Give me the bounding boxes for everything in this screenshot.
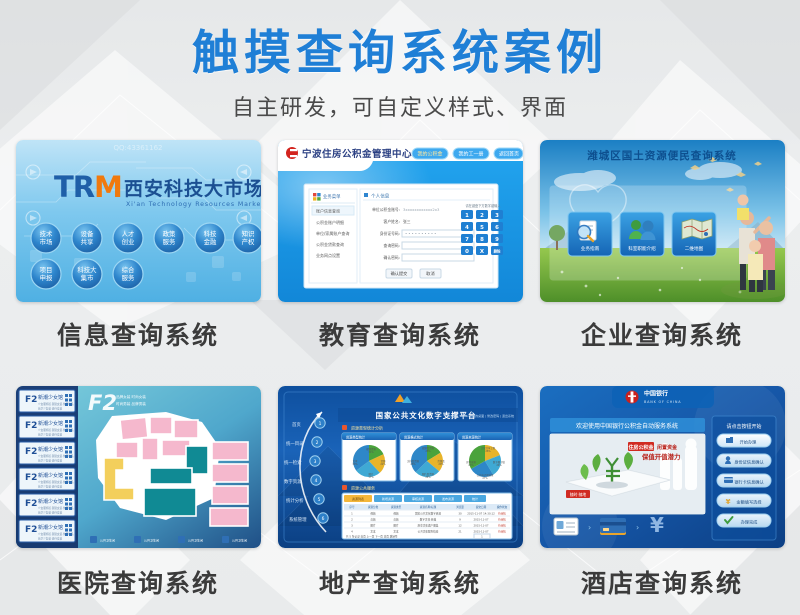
svg-text:序号: 序号 <box>349 506 355 510</box>
svg-text:音频: 音频 <box>393 518 399 522</box>
svg-text:4: 4 <box>465 225 469 231</box>
svg-text:服务: 服务 <box>121 273 134 282</box>
svg-text:新潮少女馆: 新潮少女馆 <box>38 420 63 427</box>
svg-text:2015-11-07: 2015-11-07 <box>473 530 488 534</box>
svg-text:12: 12 <box>458 524 462 528</box>
svg-text:视频: 视频 <box>393 512 399 516</box>
svg-text:BANK OF CHINA: BANK OF CHINA <box>644 400 681 404</box>
svg-text:品牌女装 时尚女装: 品牌女装 时尚女装 <box>116 394 146 399</box>
svg-text:返回首页: 返回首页 <box>498 151 518 158</box>
card-grid-row-1: QQ:43361162 TR M 西安科技大市场 Xi'an Technolog… <box>0 140 800 368</box>
svg-text:提交日期: 提交日期 <box>475 506 486 510</box>
svg-text:2: 2 <box>480 213 484 219</box>
svg-text:新潮少女馆: 新潮少女馆 <box>38 446 63 453</box>
card-education-query[interactable]: 宁波住房公积金管理中心 我的公积金 我的工一册 返回首页 <box>275 140 525 368</box>
svg-text:数字文化·经典: 数字文化·经典 <box>419 518 436 522</box>
card-realestate-query[interactable]: 国家公共文化数字支撑平台 欢迎您，admin | 我的桌面 | 修改密码 | 退… <box>275 386 525 610</box>
svg-text:F2: F2 <box>25 473 37 483</box>
svg-text:时尚男装 品牌男装: 时尚男装 品牌男装 <box>116 401 146 406</box>
thumbnail-realestate-query[interactable]: 国家公共文化数字支撑平台 欢迎您，admin | 我的桌面 | 修改密码 | 退… <box>278 386 523 548</box>
svg-text:确认提交: 确认提交 <box>390 271 407 278</box>
svg-text:人才: 人才 <box>121 229 134 238</box>
svg-text:发布资源: 发布资源 <box>441 496 453 501</box>
caption-info-query: 信息查询系统 <box>13 302 263 368</box>
svg-text:首页: 首页 <box>292 421 301 428</box>
svg-text:待审核: 待审核 <box>498 518 506 522</box>
svg-text:科室职能介绍: 科室职能介绍 <box>628 245 656 252</box>
svg-text:新潮少女馆: 新潮少女馆 <box>38 394 63 401</box>
svg-text:F2: F2 <box>25 421 37 431</box>
svg-text:单位公积金账号:: 单位公积金账号: <box>372 207 400 212</box>
svg-text:公共文化服务指南: 公共文化服务指南 <box>417 530 438 534</box>
svg-text:删除: 删除 <box>493 249 500 254</box>
svg-text:资源来源统计: 资源来源统计 <box>462 435 482 440</box>
svg-text:少女服饰馆·潮流女装·休闲单品: 少女服饰馆·潮流女装·休闲单品 <box>38 428 74 432</box>
card-enterprise-query[interactable]: 潍城区国土资源便民查询系统 业务指南 <box>537 140 787 368</box>
svg-text:业务网点设置: 业务网点设置 <box>316 252 340 258</box>
svg-text:0: 0 <box>465 249 469 255</box>
svg-text:文本: 文本 <box>393 530 399 534</box>
card-hospital-query[interactable]: F2 新潮少女馆 少女服饰馆·潮流女装·休闲单品 前卫少女装·流行女装 F2 新 <box>13 386 263 610</box>
svg-text:30: 30 <box>458 512 462 516</box>
svg-text:23%: 23% <box>468 464 474 467</box>
svg-text:产权: 产权 <box>241 237 254 246</box>
svg-text:我的工一册: 我的工一册 <box>458 151 483 158</box>
svg-text:F2: F2 <box>88 391 117 415</box>
thumbnail-hotel-query[interactable]: 中国银行 BANK OF CHINA 欢迎使用中国银行公积金自动服务系统 <box>540 386 785 548</box>
svg-text:西安科技大市场: 西安科技大市场 <box>124 177 261 200</box>
svg-text:业务指南: 业务指南 <box>580 245 599 252</box>
page-title: 触摸查询系统案例 <box>0 26 800 81</box>
svg-text:M: M <box>94 170 123 204</box>
svg-text:账户信息查询: 账户信息查询 <box>316 208 340 214</box>
svg-text:21: 21 <box>458 530 462 534</box>
svg-text:资源类型统计: 资源类型统计 <box>346 435 366 440</box>
svg-text:随时·随地: 随时·随地 <box>569 492 586 497</box>
svg-text:综合: 综合 <box>121 265 134 274</box>
svg-text:共享: 共享 <box>80 237 93 246</box>
svg-text:数字资源: 数字资源 <box>284 478 302 485</box>
svg-text:审核资源: 审核资源 <box>411 496 423 501</box>
svg-text:客户姓名:: 客户姓名: <box>383 219 399 224</box>
svg-text:科技: 科技 <box>203 229 216 238</box>
svg-text:科技大: 科技大 <box>77 265 97 274</box>
svg-text:少女服饰馆·潮流女装·休闲单品: 少女服饰馆·潮流女装·休闲单品 <box>38 506 74 510</box>
svg-text:中国银行: 中国银行 <box>644 390 668 398</box>
svg-text:宁波住房公积金管理中心: 宁波住房公积金管理中心 <box>302 148 412 160</box>
svg-text:22%: 22% <box>380 463 386 466</box>
svg-text:项目: 项目 <box>39 266 52 274</box>
svg-text:公共卫生间: 公共卫生间 <box>188 538 203 543</box>
svg-text:F2: F2 <box>25 525 37 535</box>
svg-text:潍城区国土资源便民查询系统: 潍城区国土资源便民查询系统 <box>586 149 737 162</box>
page-header: 触摸查询系统案例 自主研发，可自定义样式、界面 <box>0 0 800 122</box>
svg-text:确认密码:: 确认密码: <box>383 255 399 260</box>
svg-text:F2: F2 <box>25 395 37 405</box>
svg-text:视频: 视频 <box>370 512 376 516</box>
svg-text:图片: 图片 <box>370 524 376 528</box>
svg-text:统一检索: 统一检索 <box>284 459 302 466</box>
svg-text:新潮少女馆: 新潮少女馆 <box>38 472 63 479</box>
svg-text:28%: 28% <box>425 450 431 453</box>
svg-text:政策: 政策 <box>162 229 175 238</box>
svg-text:开始办理: 开始办理 <box>739 439 757 446</box>
svg-text:31%: 31% <box>368 451 374 454</box>
svg-text:2: 2 <box>315 440 318 446</box>
svg-text:3xxxxxxxxxxxx2x3: 3xxxxxxxxxxxx2x3 <box>403 207 440 212</box>
svg-text:技术: 技术 <box>39 229 52 238</box>
svg-text:设备: 设备 <box>80 229 93 238</box>
caption-hotel-query: 酒店查询系统 <box>537 548 787 610</box>
svg-text:3: 3 <box>495 213 499 219</box>
svg-text:业务菜单: 业务菜单 <box>323 193 341 200</box>
svg-text:少女服饰馆·潮流女装·休闲单品: 少女服饰馆·潮流女装·休闲单品 <box>38 454 74 458</box>
svg-text:共 5 条记录 首页 上一页 下一页 末页 跳转至: 共 5 条记录 首页 上一页 下一页 末页 跳转至 <box>346 535 398 539</box>
svg-text:9: 9 <box>495 237 499 243</box>
svg-text:26%: 26% <box>485 450 491 453</box>
svg-text:音频: 音频 <box>370 518 376 522</box>
svg-text:系统管理: 系统管理 <box>289 516 307 523</box>
svg-text:公积金贷款查询: 公积金贷款查询 <box>316 241 344 247</box>
card-hotel-query[interactable]: 中国银行 BANK OF CHINA 欢迎使用中国银行公积金自动服务系统 <box>537 386 787 610</box>
svg-text:7: 7 <box>465 237 469 243</box>
svg-text:5: 5 <box>317 497 320 503</box>
svg-text:资源分类: 资源分类 <box>367 506 378 510</box>
svg-text:浏览量: 浏览量 <box>456 506 464 510</box>
caption-enterprise-query: 企业查询系统 <box>537 302 787 368</box>
svg-text:••••••••••: •••••••••• <box>405 232 437 237</box>
svg-text:待审核: 待审核 <box>498 512 506 516</box>
svg-text:前卫少女装·流行女装: 前卫少女装·流行女装 <box>38 407 63 411</box>
svg-text:创业: 创业 <box>121 237 134 246</box>
svg-text:前卫少女装·流行女装: 前卫少女装·流行女装 <box>38 485 63 489</box>
svg-text:Xi'an Technology Resources Mar: Xi'an Technology Resources Market <box>126 201 261 208</box>
svg-text:公共卫生间: 公共卫生间 <box>232 538 247 543</box>
thumbnail-education-query[interactable]: 宁波住房公积金管理中心 我的公积金 我的工一册 返回首页 <box>278 140 523 302</box>
svg-text:¥: ¥ <box>650 513 664 537</box>
svg-text:¥: ¥ <box>725 498 730 506</box>
svg-text:操作状态: 操作状态 <box>496 506 507 510</box>
svg-text:查询密码:: 查询密码: <box>383 243 399 248</box>
card-info-query[interactable]: QQ:43361162 TR M 西安科技大市场 Xi'an Technolog… <box>13 140 263 368</box>
svg-text:资源公共服务: 资源公共服务 <box>351 485 375 491</box>
svg-text:2015-11-07 14:30:12: 2015-11-07 14:30:12 <box>467 512 495 516</box>
svg-text:前卫少女装·流行女装: 前卫少女装·流行女装 <box>38 537 63 541</box>
svg-text:6: 6 <box>321 516 324 522</box>
svg-text:身份证号码:: 身份证号码: <box>379 231 399 236</box>
svg-text:统一目录: 统一目录 <box>286 440 304 447</box>
svg-text:单位/家属账户查询: 单位/家属账户查询 <box>316 230 349 236</box>
svg-text:个人信息: 个人信息 <box>371 193 390 200</box>
svg-text:统计: 统计 <box>471 496 477 501</box>
svg-text:24%: 24% <box>425 476 431 479</box>
svg-text:银行卡信息确认: 银行卡信息确认 <box>734 479 764 486</box>
svg-text:图片: 图片 <box>393 524 399 528</box>
card-grid-row-2: F2 新潮少女馆 少女服饰馆·潮流女装·休闲单品 前卫少女装·流行女装 F2 新 <box>0 386 800 610</box>
svg-text:2015-11-07: 2015-11-07 <box>473 524 488 528</box>
svg-text:5: 5 <box>480 225 484 231</box>
svg-text:27%: 27% <box>482 477 488 480</box>
svg-text:F2: F2 <box>25 499 37 509</box>
svg-text:国家公共文化数字资源: 国家公共文化数字资源 <box>415 512 441 516</box>
svg-text:资源列表: 资源列表 <box>351 496 363 501</box>
page-root: 触摸查询系统案例 自主研发，可自定义样式、界面 <box>0 0 800 615</box>
svg-text:1: 1 <box>465 213 469 219</box>
svg-text:欢迎使用中国银行公积金自动服务系统: 欢迎使用中国银行公积金自动服务系统 <box>575 422 677 430</box>
svg-text:30%: 30% <box>352 463 358 466</box>
svg-text:F2: F2 <box>25 447 37 457</box>
svg-text:前卫少女装·流行女装: 前卫少女装·流行女装 <box>38 433 63 437</box>
svg-text:统计分析: 统计分析 <box>286 497 304 504</box>
svg-text:28%: 28% <box>410 463 416 466</box>
svg-text:身份证信息确认: 身份证信息确认 <box>734 459 764 466</box>
svg-text:保值开值潜力: 保值开值潜力 <box>641 452 680 461</box>
svg-text:办理完成: 办理完成 <box>740 519 757 526</box>
svg-text:1: 1 <box>318 421 321 427</box>
svg-text:文本: 文本 <box>370 530 376 534</box>
svg-text:请在键盘下方数字键输入: 请在键盘下方数字键输入 <box>465 203 501 208</box>
svg-text:少女服饰馆·潮流女装·休闲单品: 少女服饰馆·潮流女装·休闲单品 <box>38 532 74 536</box>
svg-text:新潮少女馆: 新潮少女馆 <box>38 498 63 505</box>
svg-text:金额填写选择: 金额填写选择 <box>736 499 762 506</box>
svg-text:资源类型统计分析: 资源类型统计分析 <box>351 425 383 431</box>
svg-text:资源名称/标题: 资源名称/标题 <box>419 506 436 510</box>
svg-text:前卫少女装·流行女装: 前卫少女装·流行女装 <box>38 459 63 463</box>
svg-text:公积金账户明细: 公积金账户明细 <box>316 219 344 225</box>
caption-hospital-query: 医院查询系统 <box>13 548 263 610</box>
svg-text:历史文化遗产图集: 历史文化遗产图集 <box>417 524 438 528</box>
caption-realestate-query: 地产查询系统 <box>275 548 525 610</box>
svg-text:闲置资金: 闲置资金 <box>657 444 678 451</box>
svg-text:服务: 服务 <box>162 237 175 246</box>
svg-text:我的公积金: 我的公积金 <box>417 151 442 158</box>
svg-text:TR: TR <box>54 170 95 204</box>
caption-education-query: 教育查询系统 <box>275 302 525 368</box>
svg-text:集市: 集市 <box>80 273 93 282</box>
svg-text:20%: 20% <box>438 463 444 466</box>
svg-text:待审核: 待审核 <box>498 524 506 528</box>
svg-text:资源类型: 资源类型 <box>390 506 401 510</box>
svg-text:少女服饰馆·潮流女装·休闲单品: 少女服饰馆·潮流女装·休闲单品 <box>38 480 74 484</box>
svg-text:公共卫生间: 公共卫生间 <box>144 538 159 543</box>
svg-text:6: 6 <box>495 225 499 231</box>
thumbnail-hospital-query[interactable]: F2 新潮少女馆 少女服饰馆·潮流女装·休闲单品 前卫少女装·流行女装 F2 新 <box>16 386 261 548</box>
svg-text:公共卫生间: 公共卫生间 <box>100 538 115 543</box>
svg-text:二维地图: 二维地图 <box>684 245 703 252</box>
svg-text:新潮少女馆: 新潮少女馆 <box>38 524 63 531</box>
svg-text:3: 3 <box>313 459 316 465</box>
page-subtitle: 自主研发，可自定义样式、界面 <box>0 90 800 122</box>
svg-text:市场: 市场 <box>39 237 52 246</box>
svg-text:住房公积金: 住房公积金 <box>628 444 654 451</box>
svg-text:新增资源: 新增资源 <box>381 496 393 501</box>
thumbnail-enterprise-query[interactable]: 潍城区国土资源便民查询系统 业务指南 <box>540 140 785 302</box>
svg-text:›: › <box>636 523 639 532</box>
svg-text:前卫少女装·流行女装: 前卫少女装·流行女装 <box>38 511 63 515</box>
svg-text:2015-11-07: 2015-11-07 <box>473 518 488 522</box>
svg-text:少女服饰馆·潮流女装·休闲单品: 少女服饰馆·潮流女装·休闲单品 <box>38 402 74 406</box>
svg-text:欢迎您，admin | 我的桌面 | 修改密码 | 退出系统: 欢迎您，admin | 我的桌面 | 修改密码 | 退出系统 <box>447 413 513 418</box>
svg-text:张三: 张三 <box>403 219 411 224</box>
svg-text:金融: 金融 <box>203 237 216 246</box>
svg-text:QQ:43361162: QQ:43361162 <box>113 144 162 152</box>
thumbnail-info-query[interactable]: QQ:43361162 TR M 西安科技大市场 Xi'an Technolog… <box>16 140 261 302</box>
svg-text:知识: 知识 <box>241 229 254 238</box>
svg-text:›: › <box>588 523 591 532</box>
svg-text:资源格式统计: 资源格式统计 <box>404 435 424 440</box>
svg-text:申报: 申报 <box>39 273 52 282</box>
svg-text:4: 4 <box>314 478 317 484</box>
svg-text:17%: 17% <box>368 476 374 479</box>
svg-text:24%: 24% <box>496 464 502 467</box>
svg-text:请点击按钮开始: 请点击按钮开始 <box>726 423 761 430</box>
svg-text:待审核: 待审核 <box>498 530 506 534</box>
svg-text:8: 8 <box>480 237 484 243</box>
svg-text:取消: 取消 <box>426 271 434 278</box>
